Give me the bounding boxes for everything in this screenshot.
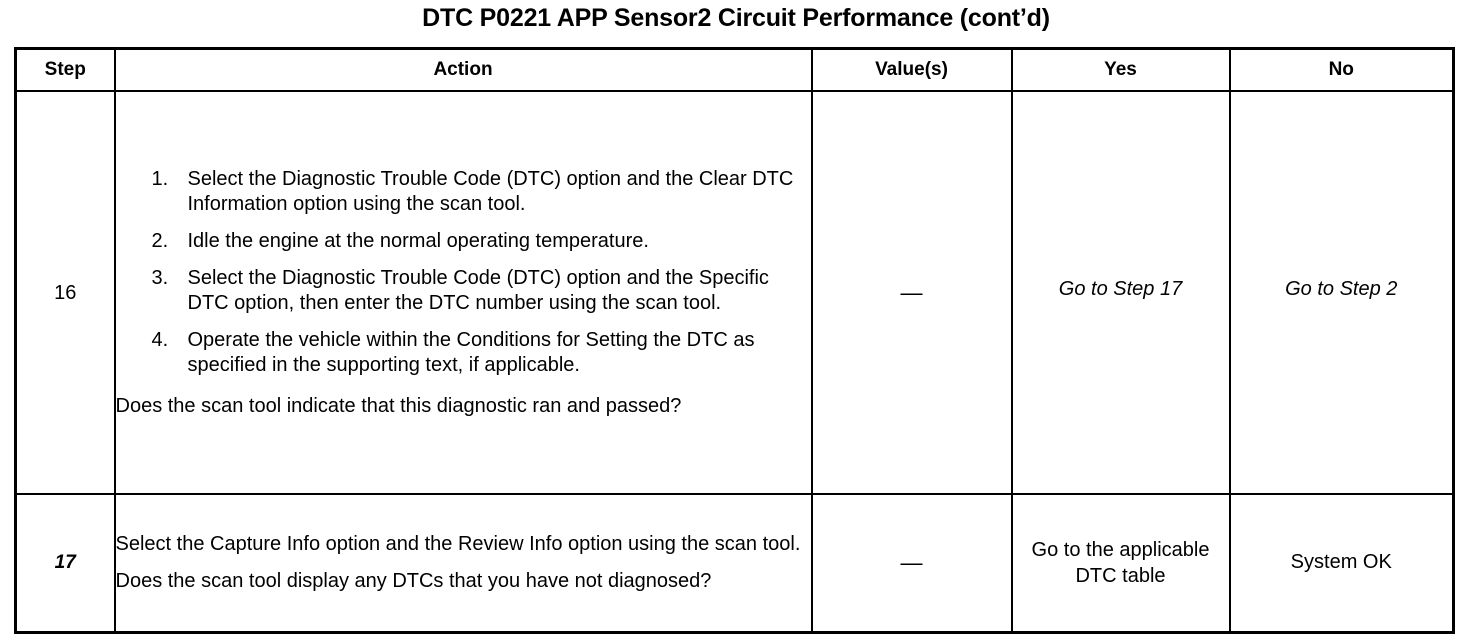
action-list-item: 4. Operate the vehicle within the Condit… <box>116 328 811 378</box>
column-header-step: Step <box>16 49 115 92</box>
action-cell-16: 1. Select the Diagnostic Trouble Code (D… <box>115 91 812 494</box>
no-cell-16: Go to Step 2 <box>1230 91 1454 494</box>
yes-answer-17: Go to the applicable DTC table <box>1013 537 1229 589</box>
column-header-action: Action <box>115 49 812 92</box>
no-cell-17: System OK <box>1230 494 1454 632</box>
yes-answer-wrap-17: Go to the applicable DTC table <box>1013 537 1229 589</box>
list-marker: 3. <box>152 266 176 291</box>
action-step-list-16: 1. Select the Diagnostic Trouble Code (D… <box>116 167 811 378</box>
no-answer-wrap-17: System OK <box>1231 549 1453 577</box>
yes-cell-16: Go to Step 17 <box>1012 91 1230 494</box>
value-dash: — <box>901 550 923 575</box>
action-list-item: 3. Select the Diagnostic Trouble Code (D… <box>116 266 811 316</box>
list-text: Select the Diagnostic Trouble Code (DTC)… <box>188 266 811 316</box>
action-question-17: Does the scan tool display any DTCs that… <box>116 569 811 594</box>
column-header-yes: Yes <box>1012 49 1230 92</box>
diagnostic-table: Step Action Value(s) Yes No 16 1. Select… <box>14 47 1455 634</box>
list-marker: 2. <box>152 229 176 254</box>
yes-cell-17: Go to the applicable DTC table <box>1012 494 1230 632</box>
action-list-item: 2. Idle the engine at the normal operati… <box>116 229 811 254</box>
page-title: DTC P0221 APP Sensor2 Circuit Performanc… <box>0 2 1472 34</box>
value-dash: — <box>901 280 923 305</box>
action-question-16: Does the scan tool indicate that this di… <box>116 394 811 419</box>
no-answer-wrap-16: Go to Step 2 <box>1231 276 1453 310</box>
page-root: DTC P0221 APP Sensor2 Circuit Performanc… <box>0 0 1472 642</box>
no-answer-16: Go to Step 2 <box>1285 276 1397 302</box>
yes-answer-wrap-16: Go to Step 17 <box>1013 276 1229 310</box>
yes-answer-16: Go to Step 17 <box>1059 276 1182 302</box>
column-header-value: Value(s) <box>812 49 1012 92</box>
step-number-17: 17 <box>16 494 115 632</box>
value-cell-17: — <box>812 494 1012 632</box>
list-text: Select the Diagnostic Trouble Code (DTC)… <box>188 167 811 217</box>
table-row: 16 1. Select the Diagnostic Trouble Code… <box>16 91 1454 494</box>
list-text: Idle the engine at the normal operating … <box>188 229 811 254</box>
action-cell-17: Select the Capture Info option and the R… <box>115 494 812 632</box>
table-row: 17 Select the Capture Info option and th… <box>16 494 1454 632</box>
action-instruction-17: Select the Capture Info option and the R… <box>116 532 811 557</box>
action-list-item: 1. Select the Diagnostic Trouble Code (D… <box>116 167 811 217</box>
table-header-row: Step Action Value(s) Yes No <box>16 49 1454 92</box>
no-answer-17: System OK <box>1291 549 1392 575</box>
step-number-16: 16 <box>16 91 115 494</box>
list-text: Operate the vehicle within the Condition… <box>188 328 811 378</box>
list-marker: 1. <box>152 167 176 192</box>
list-marker: 4. <box>152 328 176 353</box>
column-header-no: No <box>1230 49 1454 92</box>
value-cell-16: — <box>812 91 1012 494</box>
